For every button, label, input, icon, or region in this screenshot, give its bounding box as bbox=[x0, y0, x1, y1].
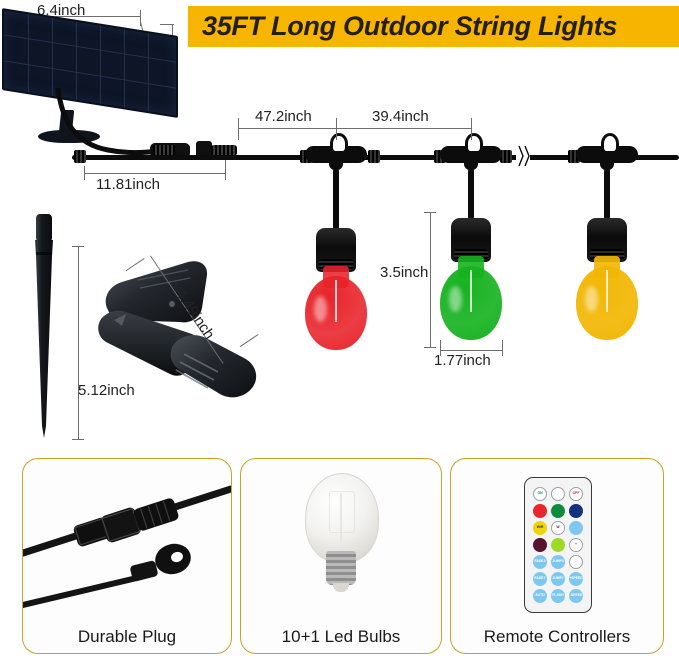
remote-button-flash[interactable]: FLASH bbox=[551, 589, 565, 603]
dim-tick-drop-bottom bbox=[424, 347, 436, 348]
clear-bulb-filament-frame bbox=[329, 491, 355, 533]
card-label-led-bulbs: 10+1 Led Bulbs bbox=[241, 627, 441, 647]
bulb-filament bbox=[606, 270, 608, 312]
dim-label-bulb-diameter: 1.77inch bbox=[434, 352, 491, 369]
socket-hanging-hook-icon bbox=[330, 133, 348, 154]
cable-clip bbox=[92, 258, 267, 418]
remote-button-color-1-1[interactable] bbox=[551, 504, 565, 518]
dim-label-first-spacing: 47.2inch bbox=[255, 108, 312, 125]
amber-bulb bbox=[576, 256, 638, 340]
dim-line-bulb-diameter bbox=[440, 350, 503, 351]
dim-tick-bulb-right bbox=[502, 340, 503, 356]
socket-drop-cord bbox=[468, 168, 474, 220]
remote-button-jump3[interactable]: JUMP3 bbox=[551, 555, 565, 569]
feature-card-remote[interactable]: ONOFFW/RW+FADE3JUMP3-FADE7JUMP7+SPEEDAUT… bbox=[450, 458, 664, 654]
dim-label-bulb-spacing: 39.4inch bbox=[372, 108, 429, 125]
socket-hanging-hook-icon bbox=[465, 133, 483, 154]
clear-bulb-screw-base bbox=[326, 551, 356, 585]
wire-break-mark bbox=[516, 145, 530, 167]
dim-tick-spacing-2 bbox=[471, 118, 472, 140]
remote-button-off[interactable]: OFF bbox=[569, 487, 583, 501]
bulb-filament bbox=[335, 280, 337, 322]
feature-card-durable-plug[interactable]: Durable Plug bbox=[22, 458, 232, 654]
remote-button--speed[interactable]: +SPEED bbox=[569, 572, 583, 586]
remote-button-jump7[interactable]: JUMP7 bbox=[551, 572, 565, 586]
remote-button-color-2-2[interactable] bbox=[569, 521, 583, 535]
red-bulb bbox=[305, 266, 367, 350]
dim-tick-spacing-1 bbox=[336, 118, 337, 140]
remote-button-fade3[interactable]: FADE3 bbox=[533, 555, 547, 569]
dim-tick-cable-right bbox=[225, 160, 226, 180]
remote-control[interactable]: ONOFFW/RW+FADE3JUMP3-FADE7JUMP7+SPEEDAUT… bbox=[524, 477, 592, 613]
remote-button-color-0-1[interactable] bbox=[551, 487, 565, 501]
remote-button-on[interactable]: ON bbox=[533, 487, 547, 501]
dim-tick-stake-top bbox=[72, 246, 84, 247]
dim-label-cable: 11.81inch bbox=[96, 176, 160, 193]
socket-drop-cord bbox=[333, 168, 339, 230]
remote-button--[interactable]: - bbox=[569, 555, 583, 569]
dim-label-drop-height: 3.5inch bbox=[380, 264, 428, 281]
socket-hanging-hook-icon bbox=[601, 133, 619, 154]
green-bulb bbox=[440, 256, 502, 340]
durable-plug-image bbox=[23, 459, 231, 609]
led-bulb-image bbox=[241, 459, 441, 609]
title-banner: 35FT Long Outdoor String Lights bbox=[188, 6, 679, 47]
remote-button-color-1-2[interactable] bbox=[569, 504, 583, 518]
bulb-highlight bbox=[314, 296, 327, 322]
remote-button-fade7[interactable]: FADE7 bbox=[533, 572, 547, 586]
remote-button-w[interactable]: W bbox=[551, 521, 565, 535]
dim-tick-stake-bottom bbox=[72, 439, 84, 440]
card-label-remote: Remote Controllers bbox=[451, 627, 663, 647]
dim-line-drop-height bbox=[430, 212, 431, 348]
clear-bulb-tip bbox=[333, 583, 349, 592]
page-title: 35FT Long Outdoor String Lights bbox=[188, 11, 617, 42]
dim-line-bulb-spacing bbox=[336, 128, 472, 129]
remote-button--speed[interactable]: -SPEED bbox=[569, 589, 583, 603]
dim-tick-spacing-0 bbox=[238, 118, 239, 140]
feature-card-led-bulbs[interactable]: 10+1 Led Bulbs bbox=[240, 458, 442, 654]
dim-line-stake-length bbox=[78, 246, 79, 440]
wire-strain-relief bbox=[368, 150, 380, 163]
remote-button-w-r[interactable]: W/R bbox=[533, 521, 547, 535]
bulb-highlight bbox=[585, 286, 598, 312]
bulb-filament bbox=[470, 270, 472, 312]
remote-button-color-3-0[interactable] bbox=[533, 538, 547, 552]
remote-button-color-1-0[interactable] bbox=[533, 504, 547, 518]
dim-tick-drop-top bbox=[424, 212, 436, 213]
ground-stake bbox=[30, 212, 58, 440]
remote-button-color-3-1[interactable] bbox=[551, 538, 565, 552]
socket-drop-cord bbox=[604, 168, 610, 220]
wire-strain-relief bbox=[74, 150, 86, 163]
remote-button-auto[interactable]: AUTO bbox=[533, 589, 547, 603]
dim-line-cable bbox=[84, 173, 226, 174]
dim-line-first-spacing bbox=[238, 128, 337, 129]
bulb-highlight bbox=[449, 286, 462, 312]
card-label-durable-plug: Durable Plug bbox=[23, 627, 231, 647]
remote-button--[interactable]: + bbox=[569, 538, 583, 552]
